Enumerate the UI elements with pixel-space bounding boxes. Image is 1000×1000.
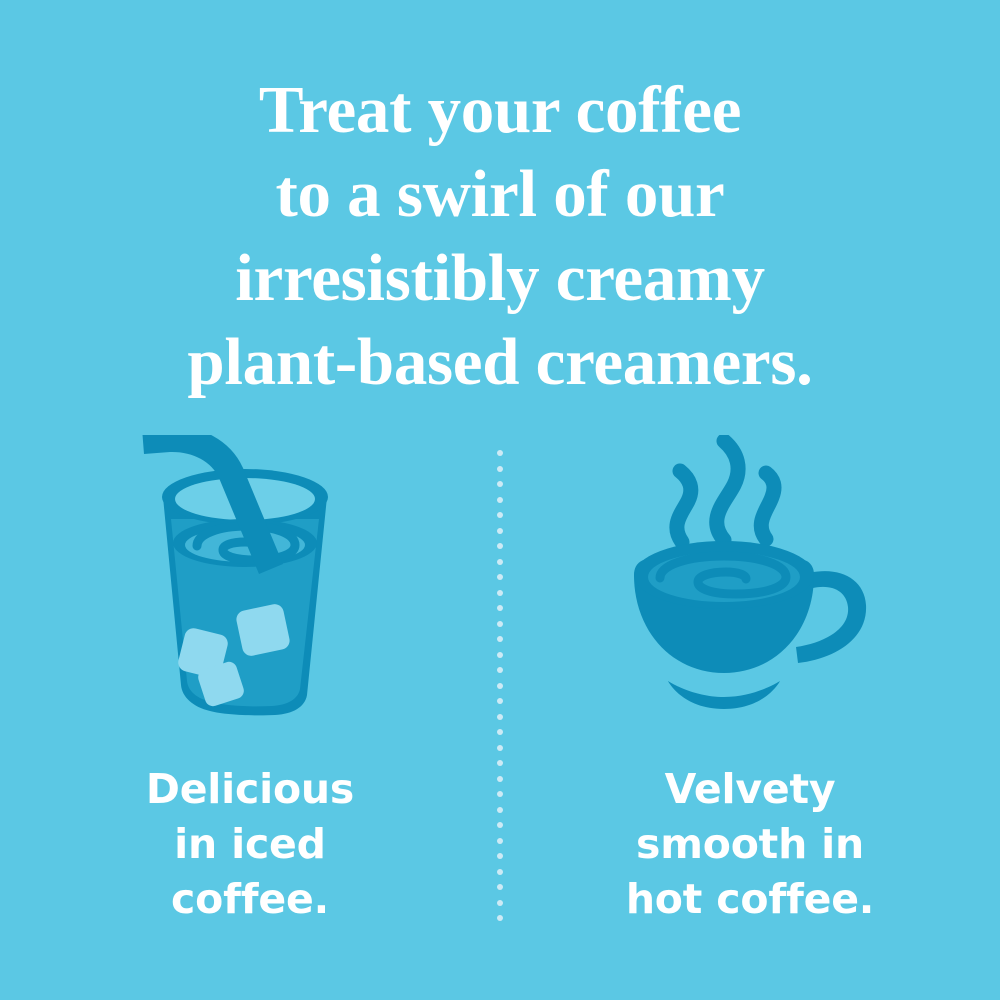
page-title: Treat your coffee to a swirl of our irre… [0, 68, 1000, 404]
caption-iced-line-2: in iced [20, 817, 480, 872]
headline-line-1: Treat your coffee [0, 68, 1000, 152]
headline-line-2: to a swirl of our [0, 152, 1000, 236]
feature-panels: Delicious in iced coffee. [0, 430, 1000, 940]
panel-hot-coffee: Velvety smooth in hot coffee. [520, 430, 980, 940]
headline-line-4: plant-based creamers. [0, 320, 1000, 404]
caption-hot-line-1: Velvety [520, 762, 980, 817]
headline-line-3: irresistibly creamy [0, 236, 1000, 320]
caption-hot-line-3: hot coffee. [520, 872, 980, 927]
caption-hot-line-2: smooth in [520, 817, 980, 872]
caption-iced-line-3: coffee. [20, 872, 480, 927]
panel-iced-coffee: Delicious in iced coffee. [20, 430, 480, 940]
hot-coffee-icon-container [520, 430, 980, 730]
caption-hot-coffee: Velvety smooth in hot coffee. [520, 762, 980, 927]
hot-coffee-cup-icon [620, 435, 880, 725]
iced-coffee-icon-container [20, 430, 480, 730]
promo-poster: Treat your coffee to a swirl of our irre… [0, 0, 1000, 1000]
iced-coffee-glass-icon [135, 435, 365, 725]
caption-iced-line-1: Delicious [20, 762, 480, 817]
caption-iced-coffee: Delicious in iced coffee. [20, 762, 480, 927]
